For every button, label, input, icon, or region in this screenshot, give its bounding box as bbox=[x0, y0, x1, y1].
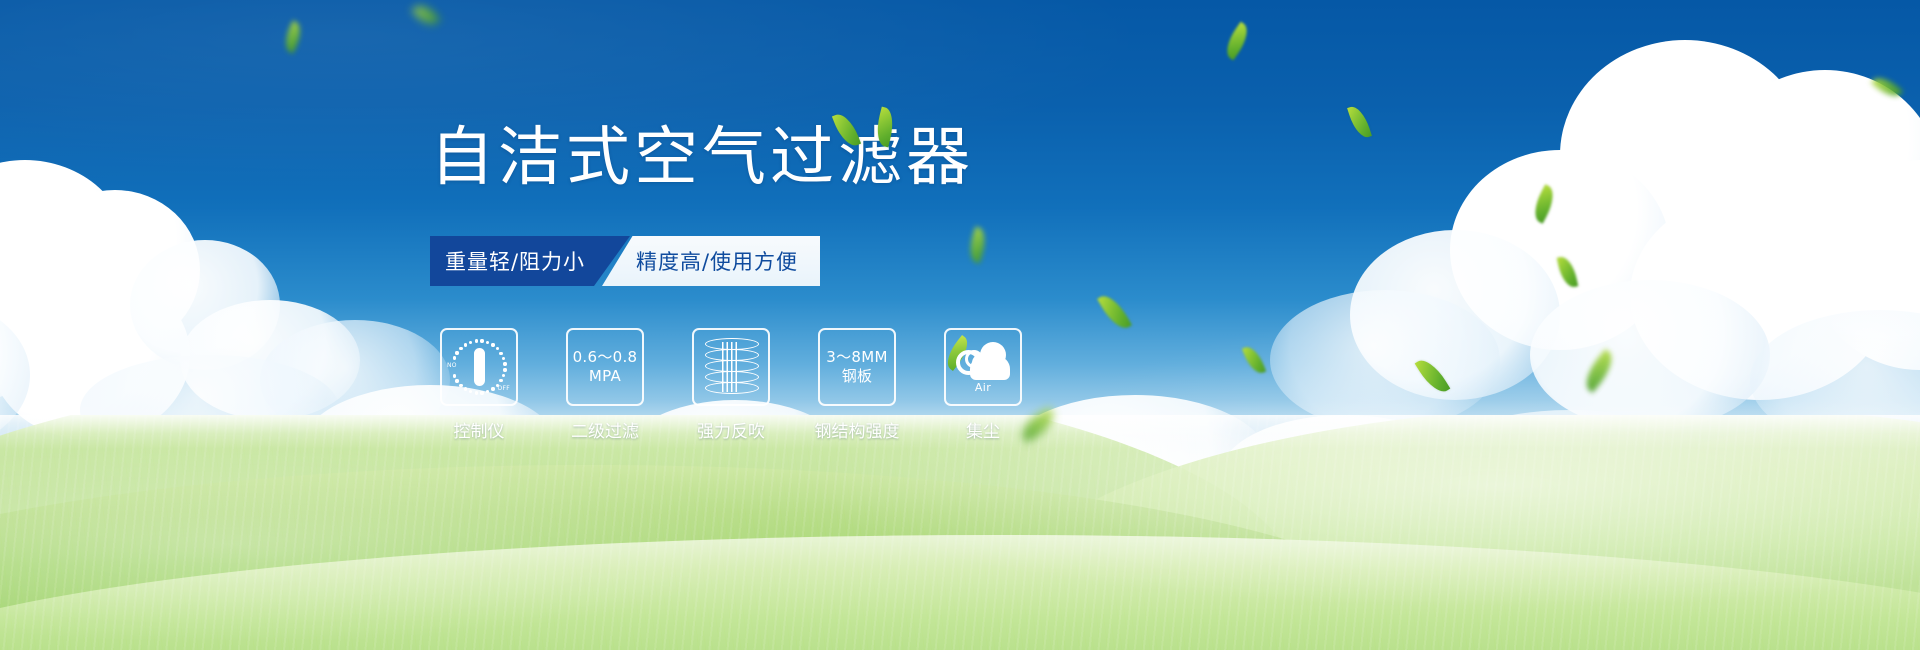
pressure-text-icon: 0.6～0.8 MPA bbox=[573, 348, 638, 386]
gauge-dot bbox=[459, 347, 462, 350]
feature-item[interactable]: NO OFF 控制仪 bbox=[440, 328, 518, 442]
gauge-dot bbox=[502, 374, 505, 377]
gauge-dot bbox=[499, 352, 502, 355]
filter-stack-icon bbox=[704, 338, 758, 396]
gauge-dot bbox=[459, 384, 462, 387]
feature-item[interactable]: 0.6～0.8 MPA 二级过滤 bbox=[566, 328, 644, 442]
pressure-line1: 0.6～0.8 bbox=[573, 348, 638, 366]
gauge-needle bbox=[474, 348, 485, 386]
feature-icon-box: 3～8MM 钢板 bbox=[818, 328, 896, 406]
feature-icon-box: Air bbox=[944, 328, 1022, 406]
gauge-dot bbox=[503, 362, 506, 365]
gauge-dot bbox=[455, 351, 458, 354]
gauge-dot bbox=[486, 390, 489, 393]
gauge-dot bbox=[464, 387, 467, 390]
feature-label: 强力反吹 bbox=[697, 417, 765, 442]
air-cloud-icon: Air bbox=[954, 342, 1012, 392]
subtitle-ribbon: 重量轻/阻力小 精度高/使用方便 bbox=[430, 236, 820, 286]
gauge-dot bbox=[469, 390, 472, 393]
ribbon-left-label: 重量轻/阻力小 bbox=[445, 246, 585, 276]
feature-label: 钢结构强度 bbox=[815, 417, 900, 442]
feature-item[interactable]: 3～8MM 钢板 钢结构强度 bbox=[818, 328, 896, 442]
gauge-dot bbox=[475, 391, 478, 394]
filter-disc bbox=[705, 382, 759, 394]
feature-item[interactable]: 强力反吹 bbox=[692, 328, 770, 442]
gauge-label-no: NO bbox=[447, 362, 457, 369]
ribbon-right-label: 精度高/使用方便 bbox=[636, 246, 798, 276]
gauge-dot bbox=[480, 391, 483, 394]
gauge-dot bbox=[480, 339, 483, 342]
gauge-dot bbox=[486, 341, 489, 344]
gauge-dial-icon: NO OFF bbox=[449, 337, 509, 397]
feature-icon-box: 0.6～0.8 MPA bbox=[566, 328, 644, 406]
pressure-line2: MPA bbox=[573, 367, 638, 386]
gauge-dot bbox=[499, 379, 502, 382]
ribbon-segment-left: 重量轻/阻力小 bbox=[430, 236, 630, 286]
feature-label: 控制仪 bbox=[454, 417, 505, 442]
ribbon-segment-right: 精度高/使用方便 bbox=[602, 236, 820, 286]
gauge-dot bbox=[502, 357, 505, 360]
gauge-dot bbox=[475, 339, 478, 342]
gauge-dot bbox=[464, 343, 467, 346]
feature-icon-box: NO OFF bbox=[440, 328, 518, 406]
feature-label: 二级过滤 bbox=[571, 417, 639, 442]
steel-text-icon: 3～8MM 钢板 bbox=[826, 348, 887, 386]
feature-item[interactable]: Air 集尘 bbox=[944, 328, 1022, 442]
gauge-dot bbox=[503, 368, 506, 371]
air-text: Air bbox=[954, 381, 1012, 394]
feature-label: 集尘 bbox=[966, 417, 1000, 442]
gauge-label-off: OFF bbox=[497, 385, 510, 392]
gauge-dot bbox=[455, 379, 458, 382]
steel-line2: 钢板 bbox=[826, 367, 887, 386]
feature-list: NO OFF 控制仪 0.6～0.8 MPA 二级过滤 bbox=[440, 328, 1022, 442]
banner-content: 自洁式空气过滤器 重量轻/阻力小 精度高/使用方便 NO OFF bbox=[0, 0, 1920, 650]
gauge-dot bbox=[453, 374, 456, 377]
product-hero-banner: 自洁式空气过滤器 重量轻/阻力小 精度高/使用方便 NO OFF bbox=[0, 0, 1920, 650]
page-title: 自洁式空气过滤器 bbox=[430, 126, 974, 190]
gauge-dot bbox=[469, 341, 472, 344]
steel-line1: 3～8MM bbox=[826, 348, 887, 366]
gauge-dot bbox=[453, 356, 456, 359]
gauge-dot bbox=[491, 343, 494, 346]
cloud-swirl bbox=[965, 350, 983, 368]
gauge-dot bbox=[496, 347, 499, 350]
feature-icon-box bbox=[692, 328, 770, 406]
gauge-dot bbox=[491, 387, 494, 390]
